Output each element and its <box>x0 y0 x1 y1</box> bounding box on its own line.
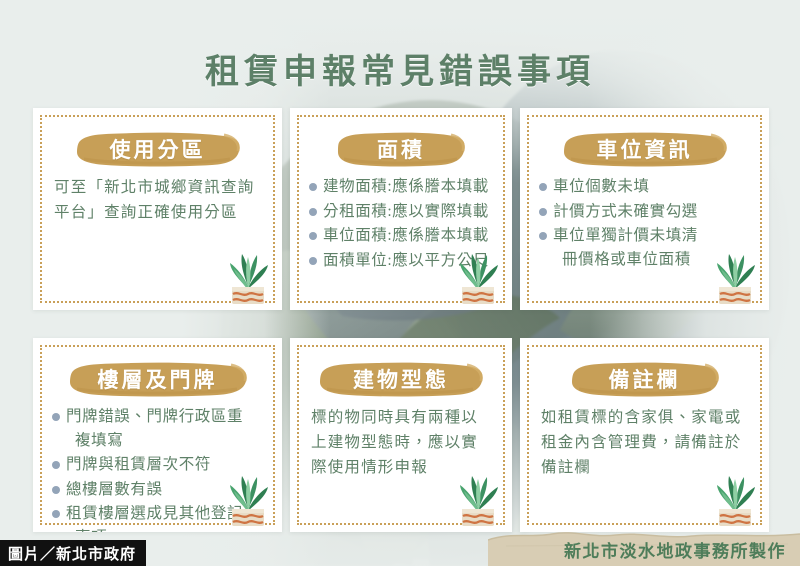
bullet-dot-icon <box>52 413 60 421</box>
card-grid: 使用分區 可至「新北市城鄉資訊查詢平台」查詢正確使用分區 <box>33 108 769 532</box>
bullet-dot-icon <box>52 461 60 469</box>
card-heading-banner: 使用分區 <box>52 129 263 169</box>
bullet-text: 建物面積:應係謄本填載 <box>323 178 489 195</box>
bullet-dot-icon <box>309 257 317 265</box>
bullet-dot-icon <box>52 510 60 518</box>
producer-credit: 新北市淡水地政事務所製作 <box>564 537 786 562</box>
list-item: 計價方式未確實勾選 <box>539 200 750 224</box>
bullet-text: 計價方式未確實勾選 <box>553 203 698 220</box>
bullet-text: 租賃樓層選成見其他登記 <box>66 505 243 522</box>
bullet-text: 門牌錯誤、門牌行政區重 <box>66 408 243 425</box>
bullet-text: 總樓層數有誤 <box>66 481 163 498</box>
bullet-text: 分租面積:應以實際填載 <box>323 203 489 220</box>
card-remarks-column: 備註欄 如租賃標的含家俱、家電或租金內含管理費，請備註於備註欄 <box>520 338 769 532</box>
bullet-dot-icon <box>539 183 547 191</box>
card-heading-text: 面積 <box>371 134 431 164</box>
list-item: 車位面積:應係謄本填載 <box>309 224 493 248</box>
potted-plant-icon <box>450 468 506 528</box>
card-body: 可至「新北市城鄉資訊查詢平台」查詢正確使用分區 <box>54 175 261 225</box>
card-heading-banner: 車位資訊 <box>539 129 750 169</box>
card-heading-text: 建物型態 <box>347 364 455 394</box>
potted-plant-icon <box>450 246 506 306</box>
card-heading-text: 備註欄 <box>603 364 687 394</box>
card-heading-text: 樓層及門牌 <box>92 364 224 394</box>
bullet-dot-icon <box>539 208 547 216</box>
bullet-dot-icon <box>539 232 547 240</box>
card-usage-zoning: 使用分區 可至「新北市城鄉資訊查詢平台」查詢正確使用分區 <box>33 108 282 310</box>
page-title: 租賃申報常見錯誤事項 <box>0 44 800 93</box>
image-credit-bar: 圖片／新北市政府 <box>0 540 146 566</box>
bullet-dot-icon <box>309 183 317 191</box>
card-parking-info: 車位資訊 車位個數未填 計價方式未確實勾選 車位單獨計價未填清 冊價格或車位面積 <box>520 108 769 310</box>
card-paragraph: 可至「新北市城鄉資訊查詢平台」查詢正確使用分區 <box>54 175 261 225</box>
bullet-dot-icon <box>309 232 317 240</box>
potted-plant-icon <box>220 246 276 306</box>
card-heading-banner: 樓層及門牌 <box>52 359 263 399</box>
bullet-dot-icon <box>52 486 60 494</box>
bullet-text: 門牌與租賃層次不符 <box>66 456 211 473</box>
card-heading-text: 使用分區 <box>104 134 212 164</box>
bullet-text: 車位單獨計價未填清 <box>553 227 698 244</box>
potted-plant-icon <box>707 246 763 306</box>
bullet-text: 車位個數未填 <box>553 178 650 195</box>
card-heading-banner: 建物型態 <box>309 359 493 399</box>
infographic-poster: 租賃申報常見錯誤事項 使用分區 可至「新北市城鄉資訊查詢平台」查詢正確 <box>0 0 800 566</box>
card-heading-text: 車位資訊 <box>591 134 699 164</box>
list-item: 建物面積:應係謄本填載 <box>309 175 493 199</box>
card-heading-banner: 備註欄 <box>539 359 750 399</box>
card-area: 面積 建物面積:應係謄本填載 分租面積:應以實際填載 車位面積:應係謄本填載 <box>290 108 512 310</box>
bullet-dot-icon <box>309 208 317 216</box>
card-heading-banner: 面積 <box>309 129 493 169</box>
list-item: 分租面積:應以實際填載 <box>309 200 493 224</box>
bullet-text: 車位面積:應係謄本填載 <box>323 227 489 244</box>
card-floor-and-door-number: 樓層及門牌 門牌錯誤、門牌行政區重 複填寫 門牌與租賃層次不符 總樓層數有誤 <box>33 338 282 532</box>
potted-plant-icon <box>220 468 276 528</box>
list-item: 門牌錯誤、門牌行政區重 複填寫 <box>52 405 263 452</box>
image-credit-text: 圖片／新北市政府 <box>8 543 136 564</box>
card-building-type: 建物型態 標的物同時具有兩種以上建物型態時，應以實際使用情形申報 <box>290 338 512 532</box>
list-item: 車位個數未填 <box>539 175 750 199</box>
potted-plant-icon <box>707 468 763 528</box>
bullet-text-continued: 複填寫 <box>66 429 263 453</box>
